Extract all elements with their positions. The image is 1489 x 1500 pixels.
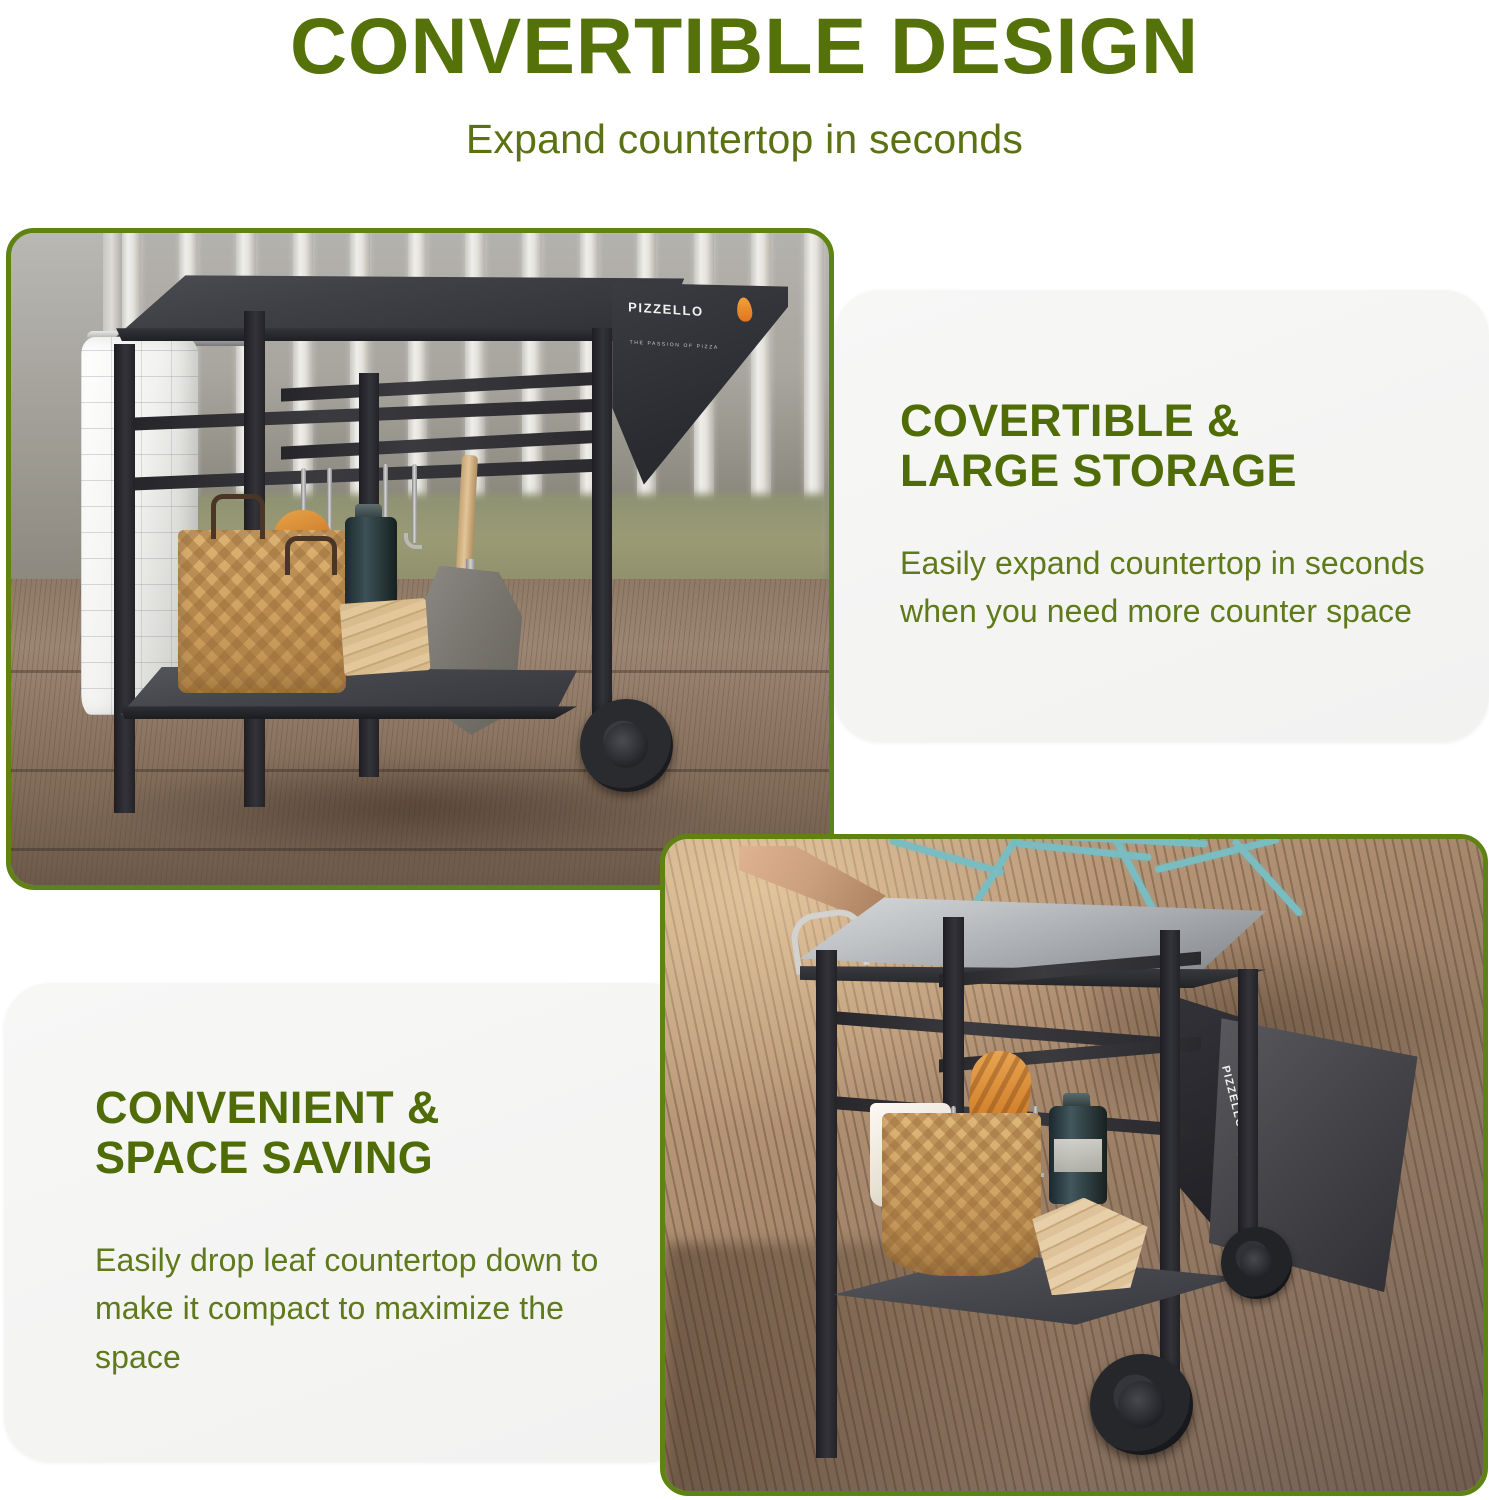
gas-canister-label bbox=[1054, 1139, 1101, 1172]
leg-front-right-2 bbox=[1160, 930, 1180, 1412]
page-title: CONVERTIBLE DESIGN bbox=[0, 0, 1489, 85]
feature-card-space-saving-content: CONVENIENT & SPACE SAVING Easily drop le… bbox=[95, 1083, 615, 1382]
feature-title-storage-line1: COVERTIBLE & bbox=[900, 396, 1440, 446]
person-arm bbox=[739, 846, 886, 918]
flame-icon bbox=[735, 298, 752, 323]
feature-body-space-saving: Easily drop leaf countertop down to make… bbox=[95, 1236, 615, 1382]
header: CONVERTIBLE DESIGN Expand countertop in … bbox=[0, 0, 1489, 190]
leg-right bbox=[592, 328, 612, 758]
scene-expanded: PIZZELLO THE PASSION OF PIZZA bbox=[11, 233, 829, 885]
cart-wheel-front bbox=[1090, 1354, 1192, 1455]
leg-front-left bbox=[114, 344, 134, 813]
utensil-hook-4-curve bbox=[404, 533, 422, 549]
infographic-page: CONVERTIBLE DESIGN Expand countertop in … bbox=[0, 0, 1489, 1500]
feature-title-storage-line2: LARGE STORAGE bbox=[900, 446, 1440, 496]
scene-folded: PIZZELLO bbox=[665, 839, 1483, 1491]
feature-body-storage: Easily expand countertop in seconds when… bbox=[900, 539, 1440, 636]
product-photo-folded: PIZZELLO bbox=[660, 834, 1488, 1496]
cart-wheel bbox=[580, 699, 673, 792]
pizza-oven-cart-expanded: PIZZELLO THE PASSION OF PIZZA bbox=[11, 233, 829, 885]
feature-title-space-saving-line2: SPACE SAVING bbox=[95, 1133, 615, 1183]
feature-title-space-saving-line1: CONVENIENT & bbox=[95, 1083, 615, 1133]
pizza-oven-cart-folded: PIZZELLO bbox=[665, 839, 1483, 1491]
cart-wheel-rear bbox=[1221, 1227, 1291, 1299]
lower-shelf-edge bbox=[111, 706, 577, 719]
utensil-hook-4 bbox=[412, 464, 417, 542]
wheel-tread-front bbox=[1090, 1354, 1192, 1455]
leg-rear-right-2 bbox=[1238, 969, 1258, 1269]
brand-name: PIZZELLO bbox=[628, 300, 704, 320]
rear-rail bbox=[281, 371, 608, 401]
wheel-tread bbox=[580, 699, 673, 792]
woven-basket-2 bbox=[882, 1113, 1042, 1276]
wheel-tread-rear bbox=[1221, 1227, 1291, 1299]
firewood-pile bbox=[340, 598, 431, 676]
product-photo-expanded: PIZZELLO THE PASSION OF PIZZA bbox=[6, 228, 834, 890]
rear-rail-lower bbox=[281, 430, 608, 460]
feature-card-storage-content: COVERTIBLE & LARGE STORAGE Easily expand… bbox=[900, 396, 1440, 636]
feature-title-storage: COVERTIBLE & LARGE STORAGE bbox=[900, 396, 1440, 497]
basket-handle-right bbox=[285, 536, 337, 575]
brand-logo-plate: PIZZELLO THE PASSION OF PIZZA bbox=[625, 282, 780, 402]
page-subtitle: Expand countertop in seconds bbox=[0, 85, 1489, 160]
feature-title-space-saving: CONVENIENT & SPACE SAVING bbox=[95, 1083, 615, 1184]
leg-front-left-2 bbox=[816, 950, 836, 1459]
basket-handle-left bbox=[211, 494, 265, 540]
brand-tagline: THE PASSION OF PIZZA bbox=[629, 340, 718, 351]
